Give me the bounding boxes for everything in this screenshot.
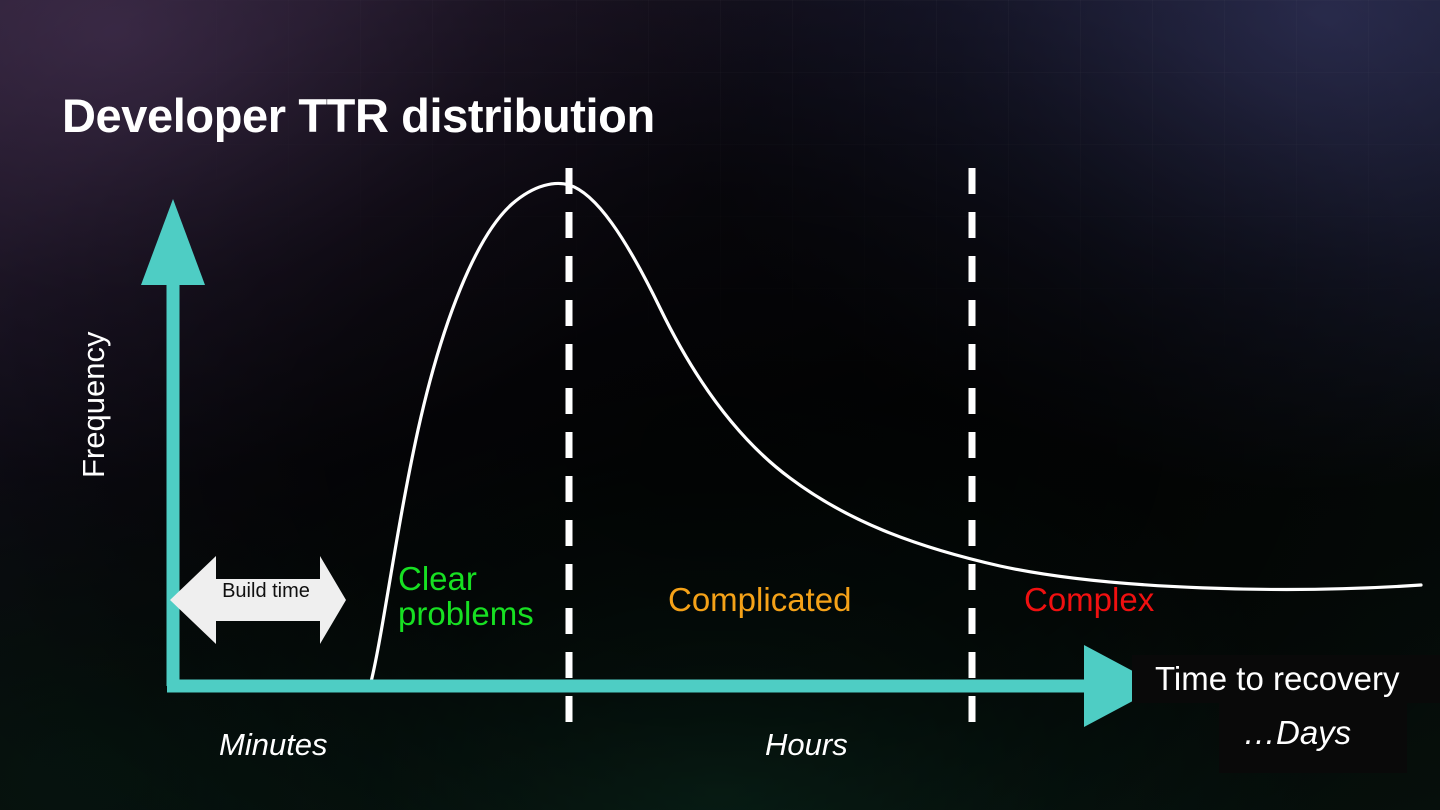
x-tick-days: …Days (1243, 716, 1351, 751)
region-label-clear-problems: Clearproblems (398, 562, 568, 632)
y-axis-label: Frequency (78, 258, 111, 478)
region-label-clear-problems-line1: Clear (398, 560, 477, 597)
region-label-clear-problems-line2: problems (398, 595, 534, 632)
x-axis-label: Time to recovery (1155, 662, 1400, 697)
y-axis-arrowhead (141, 199, 205, 285)
x-tick-minutes: Minutes (219, 729, 328, 762)
slide-canvas: Developer TTR distribution Frequency Bui… (0, 0, 1440, 810)
build-time-label: Build time (196, 581, 336, 602)
region-label-complicated: Complicated (668, 583, 851, 618)
x-tick-hours: Hours (765, 729, 848, 762)
region-label-complex: Complex (1024, 583, 1154, 618)
